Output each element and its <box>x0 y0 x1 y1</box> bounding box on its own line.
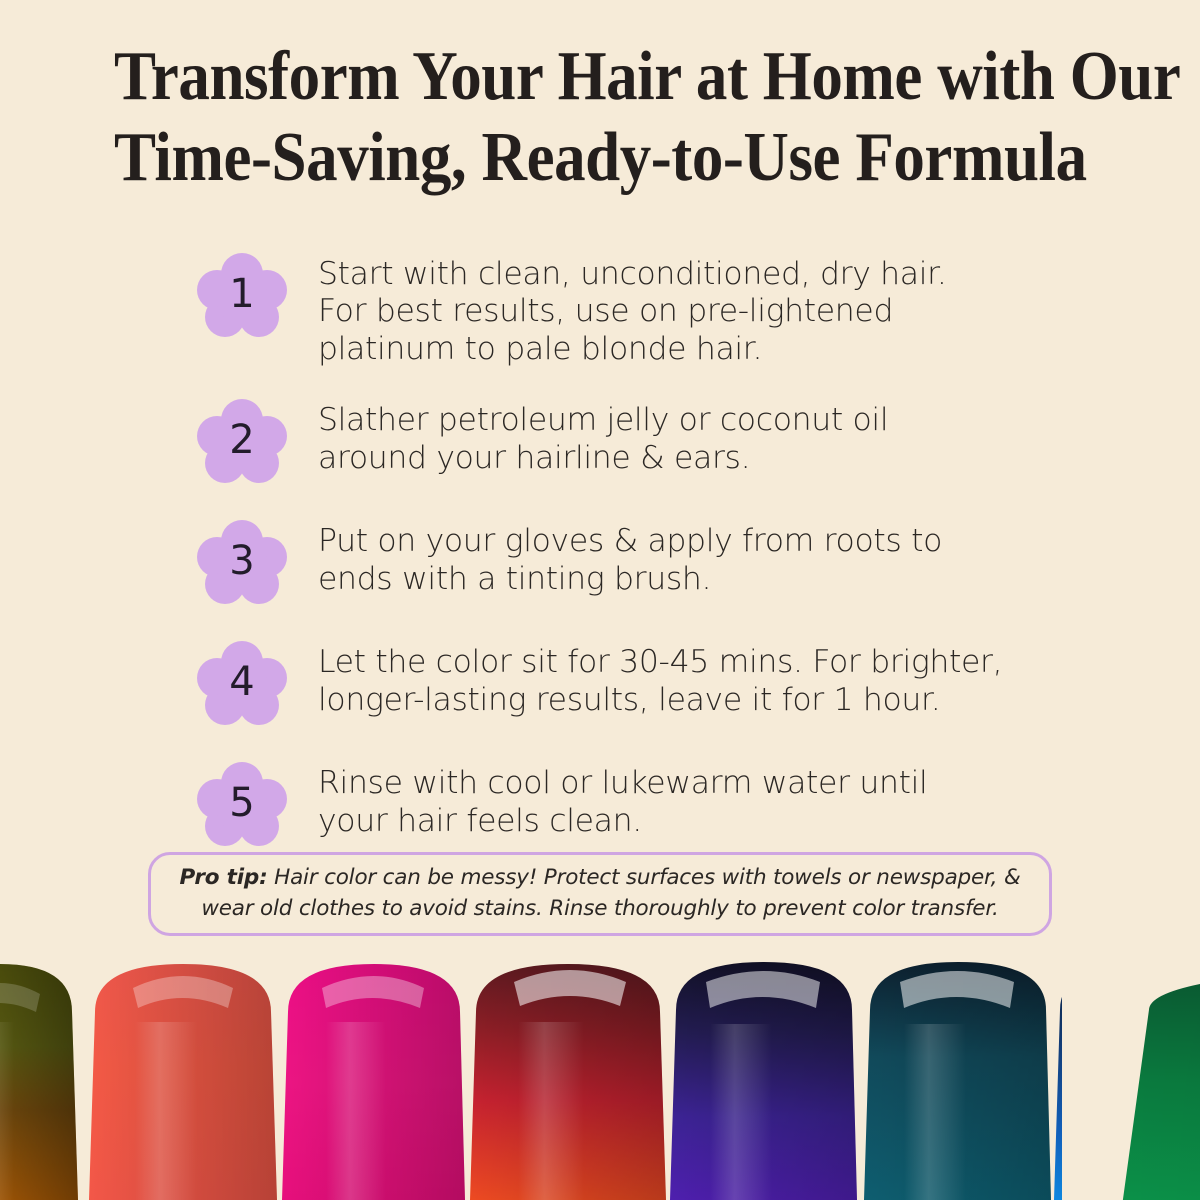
step-text-line: ends with a tinting brush. <box>318 561 1096 598</box>
infographic-page: Transform Your Hair at Home with Our Tim… <box>0 0 1200 1200</box>
step-number: 3 <box>196 519 288 607</box>
step-text-line: For best results, use on pre-lightened <box>318 293 1096 330</box>
step-number: 2 <box>196 398 288 486</box>
pro-tip-line-2: wear old clothes to avoid stains. Rinse … <box>201 894 998 925</box>
page-title: Transform Your Hair at Home with Our Tim… <box>114 36 1086 198</box>
title-line-2: Time-Saving, Ready-to-Use Formula <box>114 117 1086 198</box>
step-text-line: Let the color sit for 30-45 mins. For br… <box>318 644 1096 681</box>
flower-badge-icon: 5 <box>196 761 288 849</box>
pro-tip-label: Pro tip: <box>179 865 267 890</box>
step-description: Rinse with cool or lukewarm water until … <box>318 759 1096 840</box>
step-text-line: Start with clean, unconditioned, dry hai… <box>318 256 1096 293</box>
step-number: 1 <box>196 252 288 340</box>
list-item: 4 Let the color sit for 30-45 mins. For … <box>196 638 1096 728</box>
title-line-1: Transform Your Hair at Home with Our <box>114 36 1086 117</box>
list-item: 3 Put on your gloves & apply from roots … <box>196 517 1096 607</box>
bottle-photo-strip-right <box>1062 952 1200 1200</box>
list-item: 2 Slather petroleum jelly or coconut oil… <box>196 396 1096 486</box>
bottle-photo-strip <box>0 952 1200 1200</box>
step-text-line: Slather petroleum jelly or coconut oil <box>318 402 1096 439</box>
step-text-line: longer-lasting results, leave it for 1 h… <box>318 682 1096 719</box>
pro-tip-line-1-rest: Hair color can be messy! Protect surface… <box>267 865 1020 890</box>
list-item: 1 Start with clean, unconditioned, dry h… <box>196 250 1096 368</box>
flower-badge-icon: 3 <box>196 519 288 607</box>
step-number: 4 <box>196 640 288 728</box>
step-text-line: Rinse with cool or lukewarm water until <box>318 765 1096 802</box>
flower-badge-icon: 4 <box>196 640 288 728</box>
step-text-line: platinum to pale blonde hair. <box>318 331 1096 368</box>
steps-list: 1 Start with clean, unconditioned, dry h… <box>196 250 1096 880</box>
flower-badge-icon: 1 <box>196 252 288 340</box>
flower-badge-icon: 2 <box>196 398 288 486</box>
step-description: Slather petroleum jelly or coconut oil a… <box>318 396 1096 477</box>
pro-tip-line-1: Pro tip: Hair color can be messy! Protec… <box>179 863 1020 894</box>
list-item: 5 Rinse with cool or lukewarm water unti… <box>196 759 1096 849</box>
step-text-line: your hair feels clean. <box>318 803 1096 840</box>
step-description: Put on your gloves & apply from roots to… <box>318 517 1096 598</box>
step-number: 5 <box>196 761 288 849</box>
step-description: Start with clean, unconditioned, dry hai… <box>318 250 1096 368</box>
step-text-line: around your hairline & ears. <box>318 440 1096 477</box>
step-description: Let the color sit for 30-45 mins. For br… <box>318 638 1096 719</box>
pro-tip-callout: Pro tip: Hair color can be messy! Protec… <box>148 852 1052 936</box>
step-text-line: Put on your gloves & apply from roots to <box>318 523 1096 560</box>
